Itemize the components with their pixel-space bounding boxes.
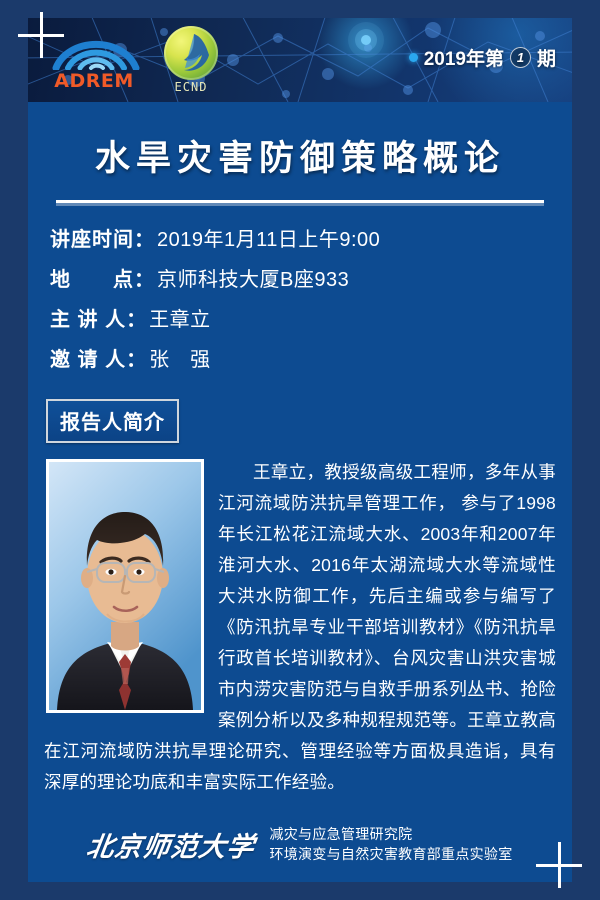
issue-number: 1 [510, 47, 531, 68]
poster-footer: 北京师范大学 减灾与应急管理研究院 环境演变与自然灾害教育部重点实验室 [28, 824, 572, 864]
info-label: 讲座时间： [50, 223, 155, 252]
info-value: 京师科技大厦B座933 [157, 263, 349, 292]
poster-header: ADREM ECND 2019年第 1 期 [28, 18, 572, 102]
ecnd-swoosh-icon [164, 26, 218, 80]
adrem-logo-text: ADREM [42, 70, 146, 92]
issue-suffix: 期 [537, 44, 556, 71]
poster: ADREM ECND 2019年第 1 期 水旱灾害防御策略概论 [0, 0, 600, 900]
organizer-line-2: 环境演变与自然灾害教育部重点实验室 [269, 844, 512, 864]
info-value: 张 强 [149, 343, 211, 372]
info-value: 王章立 [149, 303, 211, 332]
page-title: 水旱灾害防御策略概论 [28, 130, 572, 181]
speaker-portrait [46, 459, 204, 713]
info-row-inviter: 邀 请 人： 张 强 [50, 343, 572, 372]
issue-dot-icon [409, 53, 418, 62]
title-divider [56, 200, 544, 203]
ecnd-logo: ECND [160, 26, 222, 94]
section-badge-speaker-bio: 报告人简介 [46, 399, 179, 443]
speaker-bio-block: 王章立，教授级高级工程师，多年从事江河流域防洪抗旱管理工作， 参与了1998年长… [44, 457, 556, 798]
poster-panel: ADREM ECND 2019年第 1 期 水旱灾害防御策略概论 [28, 18, 572, 882]
portrait-illustration [49, 462, 201, 710]
info-row-time: 讲座时间： 2019年1月11日上午9:00 [50, 223, 572, 252]
info-row-speaker: 主 讲 人： 王章立 [50, 303, 572, 332]
info-value: 2019年1月11日上午9:00 [157, 223, 380, 252]
university-name: 北京师范大学 [85, 825, 258, 864]
info-label: 地 点： [50, 263, 155, 292]
ecnd-logo-text: ECND [160, 80, 222, 94]
info-label: 邀 请 人： [50, 343, 147, 372]
info-row-location: 地 点： 京师科技大厦B座933 [50, 263, 572, 292]
corner-bracket-top-left [18, 12, 64, 58]
header-logos: ADREM ECND [42, 26, 222, 94]
info-label: 主 讲 人： [50, 303, 147, 332]
organizer-line-1: 减灾与应急管理研究院 [269, 824, 512, 844]
organizer-names: 减灾与应急管理研究院 环境演变与自然灾害教育部重点实验室 [269, 824, 512, 864]
issue-prefix: 2019年第 [424, 44, 504, 71]
issue-label: 2019年第 1 期 [409, 44, 556, 71]
lecture-info: 讲座时间： 2019年1月11日上午9:00 地 点： 京师科技大厦B座933 … [50, 223, 572, 372]
corner-bracket-bottom-right [536, 842, 582, 888]
